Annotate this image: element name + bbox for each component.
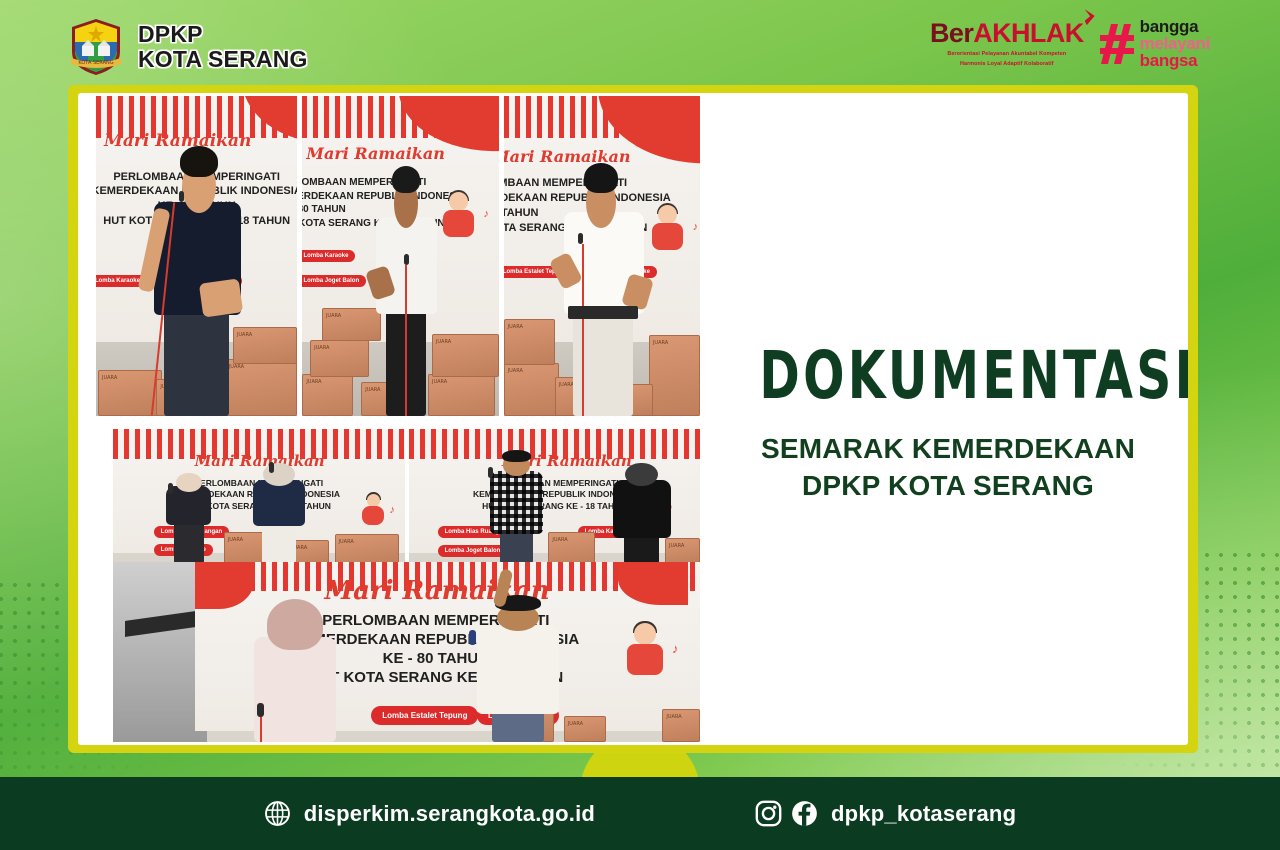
berakhlak-tick-icon <box>1085 9 1095 25</box>
brand-lockup: KOTA SERANG DPKP KOTA SERANG <box>68 18 308 76</box>
banner-child-illustration: ♪ <box>617 623 677 689</box>
berakhlak-wordmark: BerAKHLAK <box>930 18 1084 49</box>
globe-icon <box>264 800 291 827</box>
website-url: disperkim.serangkota.go.id <box>304 801 595 827</box>
page-title: DOKUMENTASI <box>759 343 1136 409</box>
kota-serang-coat-of-arms-icon: KOTA SERANG <box>68 18 124 76</box>
berakhlak-suffix: AKHLAK <box>973 18 1083 48</box>
subtitle-line-1: SEMARAK KEMERDEKAAN <box>718 431 1178 468</box>
instagram-icon[interactable] <box>755 800 782 827</box>
photo-duet-two-women[interactable]: Mari Ramaikan PERLOMBAAN MEMPERINGATI KE… <box>113 429 405 564</box>
facebook-icon[interactable] <box>791 800 818 827</box>
banner-child-illustration: ♪ <box>435 192 487 252</box>
photo-man-checkered-and-woman[interactable]: Mari Ramaikan PERLOMBAAN MEMPERINGATI KE… <box>409 429 701 564</box>
bangga-melayani-bangsa-logo: bangga melayani bangsa <box>1100 18 1210 69</box>
social-handle-group[interactable]: dpkp_kotaserang <box>755 800 1016 827</box>
content-card: Mari Ramaikan PERLOMBAAN MEMPERINGATI KE… <box>78 93 1188 745</box>
page-footer: disperkim.serangkota.go.id dpkp_kotasera… <box>0 777 1280 850</box>
brand-line-1: DPKP <box>138 22 308 47</box>
bangga-line-1: bangga <box>1140 18 1210 35</box>
social-handle: dpkp_kotaserang <box>831 801 1016 827</box>
partner-logos: BerAKHLAK Berorientasi Pelayanan Akuntab… <box>930 18 1210 69</box>
banner-pill-label: Lomba Estalet Tepung <box>371 706 478 725</box>
banner-pill-label: Lomba Karaoke <box>302 250 355 262</box>
brand-line-2: KOTA SERANG <box>138 47 308 72</box>
photo-karaoke-white-shirt-headband[interactable]: Mari Ramaikan PERLOMBAAN MEMPERINGATI KE… <box>302 96 498 416</box>
berakhlak-logo: BerAKHLAK Berorientasi Pelayanan Akuntab… <box>930 18 1084 69</box>
bangga-line-2: melayani <box>1140 35 1210 52</box>
gallery-row-middle: Mari Ramaikan PERLOMBAAN MEMPERINGATI KE… <box>113 429 700 564</box>
bangga-line-3: bangsa <box>1140 52 1210 69</box>
photo-gallery: Mari Ramaikan PERLOMBAAN MEMPERINGATI KE… <box>96 96 700 742</box>
berakhlak-tagline-2: Harmonis Loyal Adaptif Kolaboratif <box>930 61 1084 69</box>
photo-wide-stage-duet[interactable]: Mari Ramaikan PERLOMBAAN MEMPERINGATI KE… <box>113 562 700 742</box>
subtitle-line-2: DPKP KOTA SERANG <box>718 468 1178 505</box>
hashtag-icon <box>1100 24 1134 64</box>
page-subtitle: SEMARAK KEMERDEKAAN DPKP KOTA SERANG <box>718 431 1178 505</box>
banner-child-illustration: ♪ <box>644 205 696 265</box>
headline-block: DOKUMENTASI SEMARAK KEMERDEKAAN DPKP KOT… <box>718 343 1178 505</box>
berakhlak-tagline-1: Berorientasi Pelayanan Akuntabel Kompete… <box>930 51 1084 59</box>
social-icons <box>755 800 818 827</box>
photo-karaoke-navy-shirt[interactable]: Mari Ramaikan PERLOMBAAN MEMPERINGATI KE… <box>96 96 297 416</box>
gallery-row-top: Mari Ramaikan PERLOMBAAN MEMPERINGATI KE… <box>96 96 700 416</box>
page-header: KOTA SERANG DPKP KOTA SERANG BerAKHLAK B… <box>0 0 1280 92</box>
bangga-wordmark: bangga melayani bangsa <box>1140 18 1210 69</box>
website-link[interactable]: disperkim.serangkota.go.id <box>264 800 595 827</box>
brand-text: DPKP KOTA SERANG <box>138 22 308 72</box>
svg-text:KOTA SERANG: KOTA SERANG <box>78 60 113 66</box>
photo-karaoke-white-polo[interactable]: Mari Ramaikan PERLOMBAAN MEMPERINGATI KE… <box>504 96 700 416</box>
berakhlak-prefix: Ber <box>930 18 973 48</box>
